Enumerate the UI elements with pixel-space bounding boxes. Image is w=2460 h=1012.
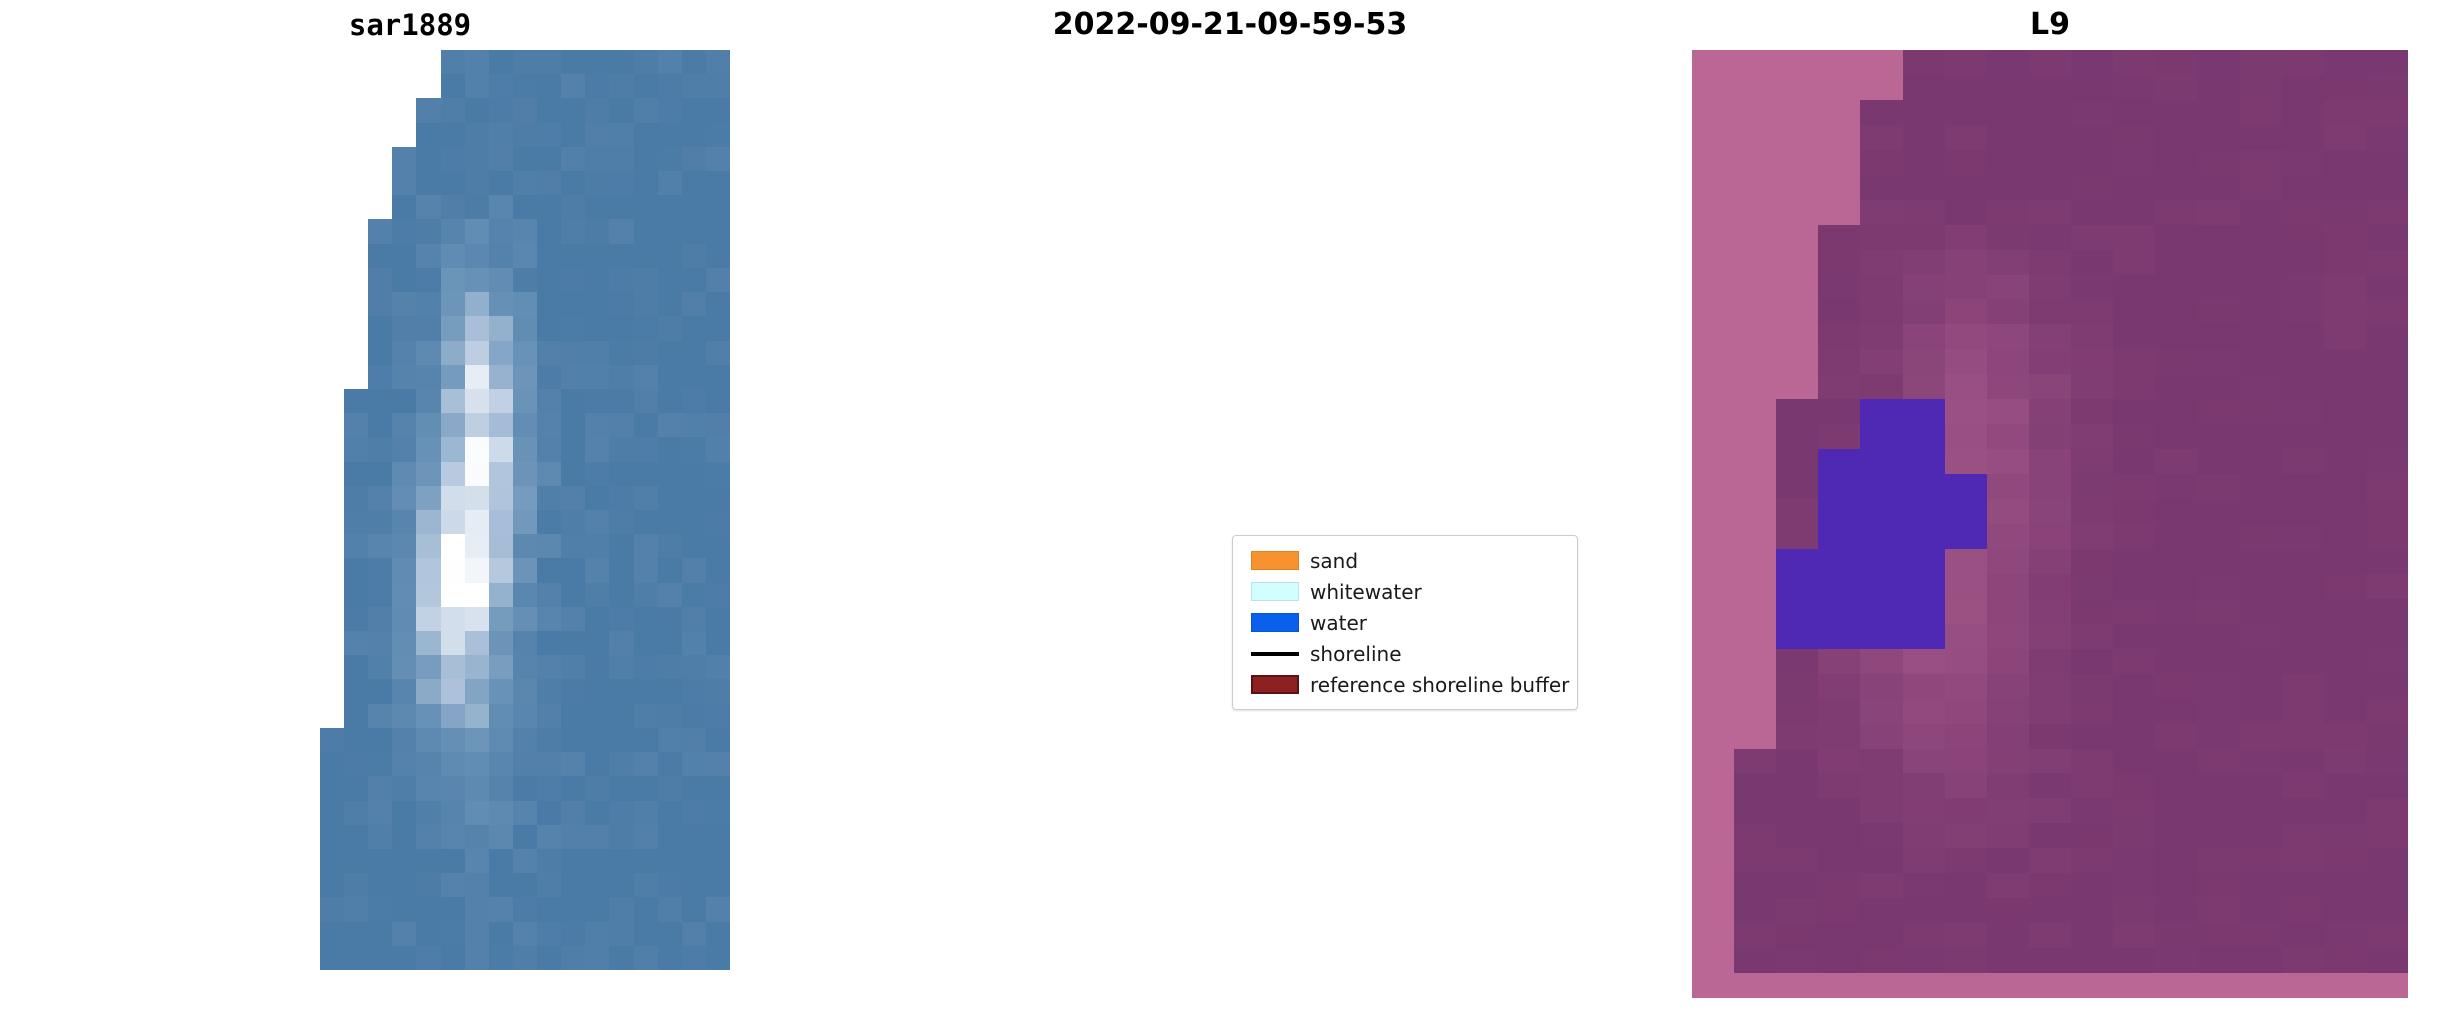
raster-cell xyxy=(441,776,465,800)
raster-cell xyxy=(537,341,561,365)
raster-cell xyxy=(682,123,706,147)
raster-cell xyxy=(609,849,633,873)
panel-l9-image: L9 xyxy=(1640,0,2460,1012)
raster-cell xyxy=(706,728,730,752)
raster-cell xyxy=(537,123,561,147)
raster-cell xyxy=(416,437,440,461)
raster-cell xyxy=(465,268,489,292)
raster-cell xyxy=(682,510,706,534)
raster-cell xyxy=(513,195,537,219)
raster-cell xyxy=(706,825,730,849)
raster-cell xyxy=(634,341,658,365)
raster-cell xyxy=(489,655,513,679)
raster-cell xyxy=(392,437,416,461)
raster-cell xyxy=(658,74,682,98)
raster-cell xyxy=(561,873,585,897)
raster-cell xyxy=(561,607,585,631)
raster-cell xyxy=(416,98,440,122)
raster-cell xyxy=(585,558,609,582)
raster-cell xyxy=(609,825,633,849)
raster-cell xyxy=(368,50,392,74)
raster-cell xyxy=(561,510,585,534)
legend-swatch-sand xyxy=(1251,551,1299,570)
raster-cell xyxy=(682,292,706,316)
raster-cell xyxy=(706,534,730,558)
raster-cell xyxy=(416,631,440,655)
raster-cell xyxy=(537,776,561,800)
raster-cell xyxy=(489,922,513,946)
legend-label: sand xyxy=(1306,550,1358,572)
raster-cell xyxy=(561,486,585,510)
raster-cell xyxy=(658,631,682,655)
raster-cell xyxy=(682,365,706,389)
raster-cell xyxy=(489,679,513,703)
raster-cell xyxy=(634,776,658,800)
raster-cell xyxy=(634,413,658,437)
raster-cell xyxy=(416,50,440,74)
raster-cell xyxy=(416,534,440,558)
raster-cell xyxy=(706,147,730,171)
raster-cell xyxy=(344,607,368,631)
raster-cell xyxy=(706,292,730,316)
raster-cell xyxy=(465,292,489,316)
legend-label: shoreline xyxy=(1306,643,1402,665)
raster-cell xyxy=(561,316,585,340)
raster-cell xyxy=(682,147,706,171)
raster-cell xyxy=(416,510,440,534)
raster-cell xyxy=(392,679,416,703)
raster-cell xyxy=(344,50,368,74)
raster-cell xyxy=(441,437,465,461)
raster-cell xyxy=(392,316,416,340)
raster-cell xyxy=(392,50,416,74)
raster-cell xyxy=(368,728,392,752)
raster-cell xyxy=(609,74,633,98)
raster-cell xyxy=(320,946,344,970)
raster-cell xyxy=(392,74,416,98)
raster-cell xyxy=(609,534,633,558)
raster-cell xyxy=(416,704,440,728)
raster-cell xyxy=(634,437,658,461)
raster-cell xyxy=(441,801,465,825)
raster-cell xyxy=(585,583,609,607)
raster-cell xyxy=(392,365,416,389)
raster-cell xyxy=(585,244,609,268)
panel-title-sar: sar1889 xyxy=(0,6,820,44)
raster-cell xyxy=(682,219,706,243)
raster-cell xyxy=(368,147,392,171)
raster-cell xyxy=(513,825,537,849)
raster-cell xyxy=(320,98,344,122)
raster-cell xyxy=(320,123,344,147)
raster-cell xyxy=(513,268,537,292)
raster-cell xyxy=(609,801,633,825)
raster-cell xyxy=(609,631,633,655)
raster-cell xyxy=(682,268,706,292)
raster-cell xyxy=(416,946,440,970)
raster-cell xyxy=(441,171,465,195)
raster-cell xyxy=(537,244,561,268)
raster-cell xyxy=(561,195,585,219)
raster-cell xyxy=(368,195,392,219)
raster-cell xyxy=(561,171,585,195)
raster-cell xyxy=(489,776,513,800)
raster-cell xyxy=(489,631,513,655)
raster-cell xyxy=(392,123,416,147)
raster-cell xyxy=(441,607,465,631)
raster-cell xyxy=(416,171,440,195)
raster-cell xyxy=(344,801,368,825)
raster-cell xyxy=(537,268,561,292)
raster-cell xyxy=(416,849,440,873)
raster-cell xyxy=(465,316,489,340)
raster-cell xyxy=(489,607,513,631)
raster-cell xyxy=(465,825,489,849)
raster-cell xyxy=(441,147,465,171)
raster-cell xyxy=(682,437,706,461)
raster-cell xyxy=(392,195,416,219)
raster-cell xyxy=(344,631,368,655)
raster-cell xyxy=(441,679,465,703)
raster-cell xyxy=(344,147,368,171)
raster-cell xyxy=(489,704,513,728)
raster-cell xyxy=(658,873,682,897)
raster-cell xyxy=(561,413,585,437)
legend-swatch-wrap xyxy=(1244,652,1306,656)
legend-swatch-whitewater xyxy=(1251,582,1299,601)
raster-cell xyxy=(658,510,682,534)
raster-cell xyxy=(561,437,585,461)
raster-cell xyxy=(489,50,513,74)
raster-cell xyxy=(634,147,658,171)
raster-cell xyxy=(392,897,416,921)
raster-cell xyxy=(513,437,537,461)
raster-cell xyxy=(416,486,440,510)
raster-cell xyxy=(320,752,344,776)
raster-cell xyxy=(658,728,682,752)
raster-cell xyxy=(344,776,368,800)
raster-cell xyxy=(682,583,706,607)
raster-cell xyxy=(320,510,344,534)
raster-cell xyxy=(368,825,392,849)
raster-cell xyxy=(368,776,392,800)
raster-cell xyxy=(609,437,633,461)
raster-cell xyxy=(320,776,344,800)
raster-cell xyxy=(344,123,368,147)
raster-cell xyxy=(416,389,440,413)
raster-cell xyxy=(706,946,730,970)
raster-cell xyxy=(513,655,537,679)
raster-cell xyxy=(537,631,561,655)
raster-cell xyxy=(585,825,609,849)
raster-cell xyxy=(465,655,489,679)
raster-cell xyxy=(368,534,392,558)
raster-cell xyxy=(441,389,465,413)
raster-cell xyxy=(585,510,609,534)
raster-cell xyxy=(392,728,416,752)
raster-cell xyxy=(465,607,489,631)
raster-cell xyxy=(489,752,513,776)
raster-cell xyxy=(706,437,730,461)
raster-cell xyxy=(489,268,513,292)
raster-cell xyxy=(320,728,344,752)
raster-cell xyxy=(682,50,706,74)
raster-cell xyxy=(416,752,440,776)
raster-cell xyxy=(344,389,368,413)
raster-cell xyxy=(537,728,561,752)
raster-cell xyxy=(368,244,392,268)
panel-title-date: 2022-09-21-09-59-53 xyxy=(820,6,1640,44)
raster-cell xyxy=(537,413,561,437)
raster-cell xyxy=(682,752,706,776)
raster-cell xyxy=(561,534,585,558)
raster-cell xyxy=(320,413,344,437)
raster-cell xyxy=(561,147,585,171)
legend-row: shoreline xyxy=(1244,638,1566,669)
raster-cell xyxy=(320,316,344,340)
raster-cell xyxy=(537,679,561,703)
raster-cell xyxy=(706,849,730,873)
raster-cell xyxy=(706,776,730,800)
raster-cell xyxy=(416,873,440,897)
raster-cell xyxy=(682,801,706,825)
raster-cell xyxy=(658,365,682,389)
raster-cell xyxy=(706,704,730,728)
raster-cell xyxy=(561,631,585,655)
raster-cell xyxy=(368,704,392,728)
raster-cell xyxy=(368,437,392,461)
raster-cell xyxy=(392,558,416,582)
raster-cell xyxy=(585,801,609,825)
raster-cell xyxy=(682,631,706,655)
raster-cell xyxy=(658,534,682,558)
raster-cell xyxy=(658,607,682,631)
legend-swatch-wrap xyxy=(1244,551,1306,570)
raster-cell xyxy=(441,873,465,897)
raster-cell xyxy=(658,776,682,800)
raster-cell xyxy=(392,873,416,897)
raster-cell xyxy=(489,316,513,340)
raster-cell xyxy=(513,607,537,631)
raster-cell xyxy=(392,704,416,728)
raster-cell xyxy=(344,292,368,316)
raster-cell xyxy=(344,679,368,703)
raster-cell xyxy=(344,946,368,970)
raster-cell xyxy=(537,219,561,243)
raster-cell xyxy=(682,244,706,268)
raster-cell xyxy=(658,704,682,728)
raster-cell xyxy=(634,922,658,946)
raster-cell xyxy=(537,195,561,219)
raster-cell xyxy=(609,462,633,486)
panel-classified-overlay: 2022-09-21-09-59-53 xyxy=(820,0,1640,1012)
raster-cell xyxy=(513,147,537,171)
raster-cell xyxy=(561,389,585,413)
raster-cell xyxy=(658,389,682,413)
raster-cell xyxy=(513,728,537,752)
raster-cell xyxy=(561,946,585,970)
raster-cell xyxy=(609,486,633,510)
raster-cell xyxy=(441,292,465,316)
raster-cell xyxy=(658,98,682,122)
raster-cell xyxy=(706,98,730,122)
raster-cell xyxy=(682,704,706,728)
raster-cell xyxy=(368,74,392,98)
raster-cell xyxy=(537,510,561,534)
raster-cell xyxy=(658,123,682,147)
raster-cell xyxy=(609,510,633,534)
raster-cell xyxy=(513,171,537,195)
raster-cell xyxy=(706,897,730,921)
raster-cell xyxy=(320,462,344,486)
raster-cell xyxy=(585,486,609,510)
raster-cell xyxy=(513,123,537,147)
raster-cell xyxy=(392,510,416,534)
raster-cell xyxy=(609,752,633,776)
raster-cell xyxy=(392,655,416,679)
raster-cell xyxy=(682,316,706,340)
raster-cell xyxy=(513,50,537,74)
raster-cell xyxy=(392,776,416,800)
raster-cell xyxy=(658,946,682,970)
raster-cell xyxy=(561,558,585,582)
raster-cell xyxy=(320,873,344,897)
raster-cell xyxy=(368,389,392,413)
raster-cell xyxy=(561,292,585,316)
raster-cell xyxy=(658,50,682,74)
raster-cell xyxy=(585,292,609,316)
raster-cell xyxy=(537,74,561,98)
raster-cell xyxy=(585,74,609,98)
raster-cell xyxy=(392,631,416,655)
raster-cell xyxy=(658,897,682,921)
raster-cell xyxy=(320,607,344,631)
raster-cell xyxy=(585,534,609,558)
raster-cell xyxy=(465,147,489,171)
raster-cell xyxy=(561,679,585,703)
raster-cell xyxy=(513,219,537,243)
raster-cell xyxy=(513,583,537,607)
raster-cell xyxy=(513,316,537,340)
raster-cell xyxy=(441,946,465,970)
raster-cell xyxy=(320,558,344,582)
raster-cell xyxy=(609,268,633,292)
raster-cell xyxy=(513,631,537,655)
raster-cell xyxy=(416,147,440,171)
raster-cell xyxy=(658,171,682,195)
raster-cell xyxy=(706,413,730,437)
raster-cell xyxy=(368,268,392,292)
raster-cell xyxy=(416,558,440,582)
raster-cell xyxy=(513,558,537,582)
raster-cell xyxy=(585,752,609,776)
raster-cell xyxy=(609,776,633,800)
raster-cell xyxy=(368,292,392,316)
raster-cell xyxy=(344,341,368,365)
raster-cell xyxy=(537,558,561,582)
raster-cell xyxy=(441,316,465,340)
raster-cell xyxy=(344,510,368,534)
raster-cell xyxy=(465,365,489,389)
raster-cell xyxy=(682,679,706,703)
legend-box: sandwhitewaterwatershorelinereference sh… xyxy=(1232,535,1578,710)
raster-cell xyxy=(634,510,658,534)
raster-cell xyxy=(368,98,392,122)
raster-cell xyxy=(441,558,465,582)
raster-cell xyxy=(392,922,416,946)
raster-cell xyxy=(416,413,440,437)
raster-cell xyxy=(658,219,682,243)
raster-cell xyxy=(368,583,392,607)
raster-cell xyxy=(489,873,513,897)
raster-cell xyxy=(416,219,440,243)
raster-cell xyxy=(368,655,392,679)
raster-cell xyxy=(682,171,706,195)
raster-cell xyxy=(489,219,513,243)
raster-cell xyxy=(392,244,416,268)
raster-cell xyxy=(392,583,416,607)
legend-label: whitewater xyxy=(1306,581,1422,603)
raster-cell xyxy=(392,341,416,365)
raster-cell xyxy=(658,825,682,849)
raster-cell xyxy=(392,292,416,316)
raster-cell xyxy=(585,776,609,800)
raster-cell xyxy=(465,462,489,486)
raster-cell xyxy=(489,413,513,437)
raster-cell xyxy=(585,316,609,340)
raster-cell xyxy=(344,74,368,98)
raster-cell xyxy=(465,583,489,607)
raster-cell xyxy=(465,776,489,800)
raster-cell xyxy=(320,655,344,679)
raster-cell xyxy=(441,462,465,486)
raster-cell xyxy=(465,244,489,268)
raster-cell xyxy=(320,171,344,195)
raster-cell xyxy=(344,704,368,728)
raster-cell xyxy=(416,74,440,98)
raster-cell xyxy=(392,534,416,558)
raster-cell xyxy=(585,219,609,243)
raster-cell xyxy=(465,50,489,74)
raster-cell xyxy=(706,365,730,389)
raster-cell xyxy=(416,728,440,752)
raster-cell xyxy=(561,98,585,122)
raster-cell xyxy=(706,873,730,897)
raster-cell xyxy=(392,486,416,510)
raster-cell xyxy=(392,389,416,413)
raster-cell xyxy=(465,486,489,510)
raster-cell xyxy=(609,244,633,268)
raster-cell xyxy=(344,462,368,486)
raster-cell xyxy=(706,389,730,413)
raster-cell xyxy=(441,922,465,946)
sar-raster xyxy=(320,50,730,970)
raster-cell xyxy=(320,268,344,292)
raster-cell xyxy=(513,534,537,558)
raster-cell xyxy=(609,873,633,897)
raster-cell xyxy=(706,195,730,219)
raster-cell xyxy=(706,922,730,946)
raster-cell xyxy=(368,946,392,970)
raster-cell xyxy=(634,825,658,849)
raster-cell xyxy=(441,486,465,510)
raster-cell xyxy=(609,946,633,970)
raster-cell xyxy=(368,752,392,776)
raster-cell xyxy=(513,801,537,825)
raster-cell xyxy=(634,316,658,340)
legend-row: reference shoreline buffer xyxy=(1244,669,1566,700)
raster-cell xyxy=(658,195,682,219)
